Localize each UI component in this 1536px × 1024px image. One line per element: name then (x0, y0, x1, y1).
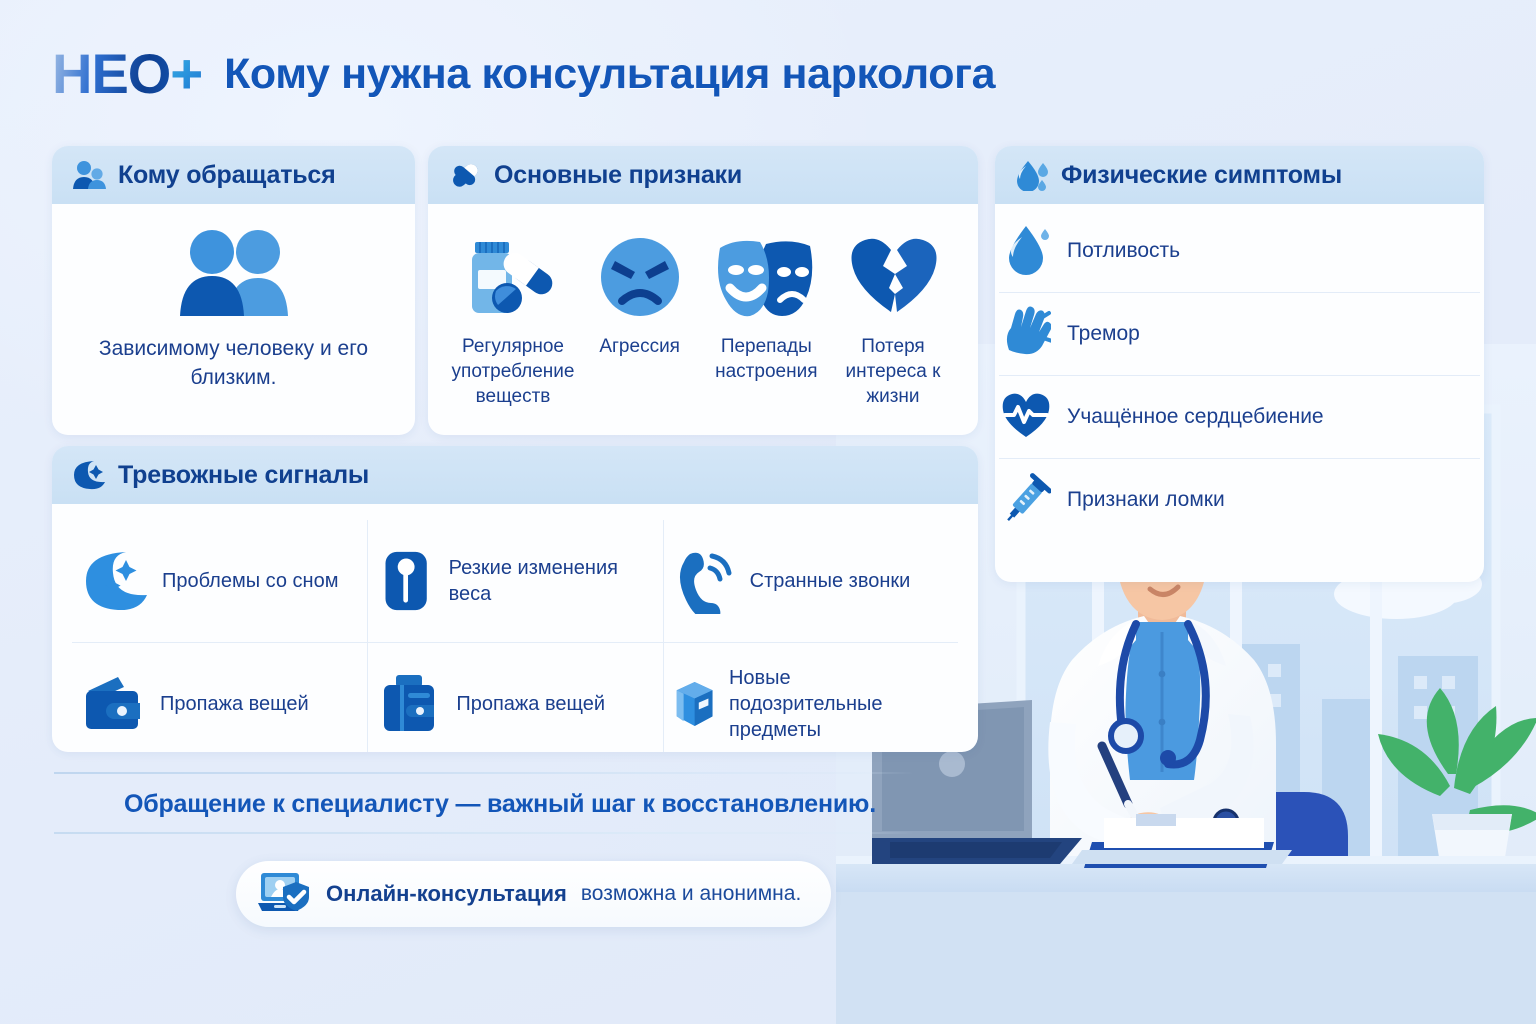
heartbeat-icon (1001, 392, 1051, 442)
list-item: Потливость (999, 210, 1480, 292)
card-signs-header: Основные признаки (428, 146, 978, 204)
alarm-item-label: Пропажа вещей (456, 691, 605, 717)
sign-item: Регулярное употребление веществ (452, 234, 574, 409)
theater-masks-icon (714, 234, 818, 320)
footer-divider-top (54, 772, 914, 774)
card-who-body: Зависимому человеку и его близким. (52, 204, 415, 411)
alarm-item-label: Пропажа вещей (160, 691, 309, 717)
broken-heart-icon (847, 234, 939, 320)
package-box-icon (674, 670, 715, 738)
alarm-item: Проблемы со сном (72, 520, 367, 642)
angry-face-icon (597, 234, 683, 320)
list-item-label: Потливость (1067, 238, 1180, 264)
alarm-item-label: Новые подозрительные предметы (729, 665, 948, 743)
pill-bottle-icon (463, 234, 563, 320)
sign-item: Перепады настроения (705, 234, 827, 409)
page-title: Кому нужна консультация нарколога (224, 50, 995, 99)
sign-item: Потеря интереса к жизни (832, 234, 954, 409)
badge-bold-text: Онлайн-консультация (326, 881, 567, 907)
alarm-item: Новые подозрительные предметы (663, 642, 958, 752)
droplet-icon (1001, 223, 1051, 279)
alarm-item: Резкие изменения веса (367, 520, 662, 642)
card-who-header: Кому обращаться (52, 146, 415, 204)
card-signs-body: Регулярное употребление веществ Агрессия (428, 204, 978, 427)
sign-label: Регулярное употребление веществ (452, 334, 575, 409)
brand-logo-plus: + (170, 46, 202, 102)
card-physical-symptoms: Физические симптомы Потливость Тремор (995, 146, 1484, 582)
footer-divider-bottom (54, 832, 914, 834)
badge-rest-text: возможна и анонимна. (581, 882, 801, 906)
briefcase-icon (378, 673, 442, 735)
list-item-label: Учащённое сердцебиение (1067, 404, 1324, 430)
crescent-moon-icon (72, 459, 106, 491)
card-main-signs: Основные признаки (428, 146, 978, 435)
laptop-verified-icon (258, 870, 312, 918)
alarm-item-label: Странные звонки (750, 568, 911, 594)
scale-icon (378, 546, 434, 616)
pills-icon (448, 159, 482, 191)
list-item-label: Тремор (1067, 321, 1140, 347)
two-people-large-icon (170, 224, 298, 320)
brand-logo-text: НЕО (52, 46, 170, 102)
list-item: Тремор (999, 292, 1480, 375)
syringe-icon (1001, 473, 1051, 527)
brand-logo: НЕО+ (52, 46, 202, 102)
list-item-label: Признаки ломки (1067, 487, 1225, 513)
card-alarm-body: Проблемы со сном Резкие изменения веса С… (52, 504, 978, 752)
alarm-item: Странные звонки (663, 520, 958, 642)
phone-ringing-icon (674, 548, 736, 614)
moon-stars-icon (82, 548, 148, 614)
alarm-item-label: Проблемы со сном (162, 568, 338, 594)
card-physical-title: Физические симптомы (1061, 161, 1342, 190)
list-item: Признаки ломки (999, 458, 1480, 541)
wallet-icon (82, 673, 146, 735)
card-signs-title: Основные признаки (494, 161, 742, 190)
sign-label: Перепады настроения (705, 334, 827, 384)
card-alarm-header: Тревожные сигналы (52, 446, 978, 504)
list-item: Учащённое сердцебиение (999, 375, 1480, 458)
card-who-to-contact: Кому обращаться Зависимому человеку и ег… (52, 146, 415, 435)
alarm-item-label: Резкие изменения веса (449, 555, 653, 607)
sign-label: Агрессия (599, 334, 680, 359)
card-who-caption: Зависимому человеку и его близким. (72, 334, 395, 393)
alarm-item: Пропажа вещей (367, 642, 662, 752)
shaking-hand-icon (1001, 306, 1051, 362)
card-physical-body: Потливость Тремор Учащённое сердцебиение (995, 204, 1484, 541)
two-people-icon (72, 160, 106, 190)
footer-note: Обращение к специалисту — важный шаг к в… (124, 790, 876, 819)
sign-item: Агрессия (579, 234, 701, 409)
alarm-grid: Проблемы со сном Резкие изменения веса С… (72, 520, 958, 752)
card-alarm-signals: Тревожные сигналы Проблемы со сном Ре (52, 446, 978, 752)
online-consultation-badge[interactable]: Онлайн-консультация возможна и анонимна. (236, 861, 831, 927)
water-drops-icon (1015, 159, 1049, 191)
sign-label: Потеря интереса к жизни (832, 334, 954, 409)
alarm-item: Пропажа вещей (72, 642, 367, 752)
card-alarm-title: Тревожные сигналы (118, 461, 369, 490)
card-physical-header: Физические симптомы (995, 146, 1484, 204)
signs-row: Регулярное употребление веществ Агрессия (448, 220, 958, 409)
card-who-title: Кому обращаться (118, 161, 336, 190)
page-header: НЕО+ Кому нужна консультация нарколога (52, 38, 995, 110)
